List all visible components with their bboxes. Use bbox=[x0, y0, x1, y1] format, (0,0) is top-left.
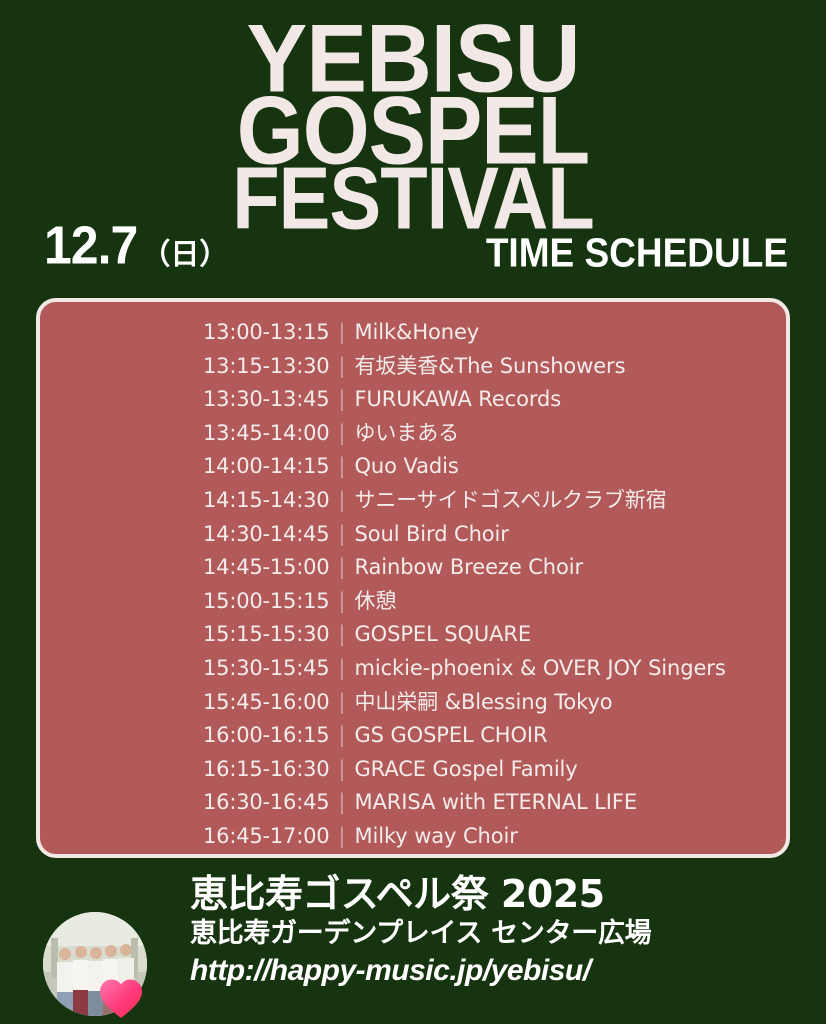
schedule-row-time: 16:00-16:15 bbox=[203, 719, 329, 753]
schedule-row-separator: | bbox=[329, 786, 354, 820]
schedule-row-time: 15:00-15:15 bbox=[203, 585, 329, 619]
poster-title: YEBISU GOSPEL FESTIVAL bbox=[0, 0, 826, 240]
schedule-row-act: サニーサイドゴスペルクラブ新宿 bbox=[355, 484, 667, 518]
schedule-row-time: 15:45-16:00 bbox=[203, 686, 329, 720]
schedule-row-separator: | bbox=[329, 350, 354, 384]
schedule-row-act: Milky way Choir bbox=[355, 820, 518, 854]
footer-event-title: 恵比寿ゴスペル祭 2025 bbox=[190, 872, 790, 916]
schedule-row: 15:15-15:30|GOSPEL SQUARE bbox=[203, 618, 786, 652]
schedule-row: 16:30-16:45|MARISA with ETERNAL LIFE bbox=[203, 786, 786, 820]
schedule-row: 16:45-17:00|Milky way Choir bbox=[203, 820, 786, 854]
schedule-row-separator: | bbox=[329, 719, 354, 753]
schedule-row-act: 有坂美香&The Sunshowers bbox=[355, 350, 626, 384]
schedule-row-act: 休憩 bbox=[355, 585, 397, 619]
schedule-row-act: GS GOSPEL CHOIR bbox=[355, 719, 548, 753]
schedule-row: 14:45-15:00|Rainbow Breeze Choir bbox=[203, 551, 786, 585]
schedule-row-separator: | bbox=[329, 618, 354, 652]
footer-url[interactable]: http://happy-music.jp/yebisu/ bbox=[190, 952, 790, 990]
event-date: 12.7 （日） bbox=[44, 222, 228, 272]
footer-photo-group bbox=[43, 912, 147, 1016]
event-date-number: 12.7 bbox=[44, 218, 137, 272]
poster-footer: 恵比寿ゴスペル祭 2025 恵比寿ガーデンプレイス センター広場 http://… bbox=[0, 866, 826, 1024]
schedule-row: 14:30-14:45|Soul Bird Choir bbox=[203, 518, 786, 552]
schedule-row-act: ゆいまある bbox=[355, 417, 460, 451]
schedule-row-time: 14:30-14:45 bbox=[203, 518, 329, 552]
schedule-row-separator: | bbox=[329, 484, 354, 518]
heart-icon bbox=[99, 978, 143, 1020]
schedule-row-separator: | bbox=[329, 652, 354, 686]
schedule-row-act: FURUKAWA Records bbox=[355, 383, 562, 417]
schedule-row-act: 中山栄嗣 &Blessing Tokyo bbox=[355, 686, 613, 720]
schedule-row: 15:00-15:15|休憩 bbox=[203, 585, 786, 619]
event-date-dayofweek: （日） bbox=[141, 240, 228, 269]
schedule-row-time: 15:15-15:30 bbox=[203, 618, 329, 652]
schedule-row: 14:00-14:15|Quo Vadis bbox=[203, 450, 786, 484]
schedule-row: 15:30-15:45|mickie-phoenix & OVER JOY Si… bbox=[203, 652, 786, 686]
schedule-panel: 13:00-13:15|Milk&Honey13:15-13:30|有坂美香&T… bbox=[36, 298, 790, 858]
schedule-row-act: mickie-phoenix & OVER JOY Singers bbox=[355, 652, 726, 686]
schedule-row: 13:15-13:30|有坂美香&The Sunshowers bbox=[203, 350, 786, 384]
schedule-row-time: 13:00-13:15 bbox=[203, 316, 329, 350]
schedule-row-act: MARISA with ETERNAL LIFE bbox=[355, 786, 638, 820]
schedule-row-separator: | bbox=[329, 753, 354, 787]
schedule-row-separator: | bbox=[329, 450, 354, 484]
schedule-row-separator: | bbox=[329, 686, 354, 720]
schedule-row-act: Soul Bird Choir bbox=[355, 518, 509, 552]
schedule-row: 13:30-13:45|FURUKAWA Records bbox=[203, 383, 786, 417]
schedule-row-time: 15:30-15:45 bbox=[203, 652, 329, 686]
schedule-row-time: 14:00-14:15 bbox=[203, 450, 329, 484]
schedule-row-act: Rainbow Breeze Choir bbox=[355, 551, 584, 585]
schedule-row: 16:15-16:30|GRACE Gospel Family bbox=[203, 753, 786, 787]
time-schedule-heading: TIME SCHEDULE bbox=[486, 232, 788, 273]
schedule-row-time: 16:15-16:30 bbox=[203, 753, 329, 787]
schedule-row-time: 13:15-13:30 bbox=[203, 350, 329, 384]
schedule-row-time: 14:15-14:30 bbox=[203, 484, 329, 518]
schedule-row-separator: | bbox=[329, 551, 354, 585]
schedule-row-time: 16:30-16:45 bbox=[203, 786, 329, 820]
schedule-row-separator: | bbox=[329, 518, 354, 552]
poster-root: YEBISU GOSPEL FESTIVAL 12.7 （日） TIME SCH… bbox=[0, 0, 826, 1024]
schedule-row-act: Quo Vadis bbox=[355, 450, 459, 484]
schedule-row: 14:15-14:30|サニーサイドゴスペルクラブ新宿 bbox=[203, 484, 786, 518]
schedule-row-act: Milk&Honey bbox=[355, 316, 480, 350]
schedule-row-act: GOSPEL SQUARE bbox=[355, 618, 532, 652]
schedule-row-separator: | bbox=[329, 316, 354, 350]
schedule-list: 13:00-13:15|Milk&Honey13:15-13:30|有坂美香&T… bbox=[40, 316, 786, 854]
schedule-row-time: 13:30-13:45 bbox=[203, 383, 329, 417]
schedule-row-separator: | bbox=[329, 417, 354, 451]
schedule-row-separator: | bbox=[329, 585, 354, 619]
footer-venue: 恵比寿ガーデンプレイス センター広場 bbox=[190, 916, 790, 952]
schedule-row-separator: | bbox=[329, 383, 354, 417]
schedule-row-separator: | bbox=[329, 820, 354, 854]
schedule-row-act: GRACE Gospel Family bbox=[355, 753, 578, 787]
schedule-row: 15:45-16:00|中山栄嗣 &Blessing Tokyo bbox=[203, 686, 786, 720]
schedule-row-time: 16:45-17:00 bbox=[203, 820, 329, 854]
schedule-row: 13:45-14:00|ゆいまある bbox=[203, 417, 786, 451]
schedule-row-time: 14:45-15:00 bbox=[203, 551, 329, 585]
schedule-row-time: 13:45-14:00 bbox=[203, 417, 329, 451]
schedule-row: 16:00-16:15|GS GOSPEL CHOIR bbox=[203, 719, 786, 753]
footer-text-block: 恵比寿ゴスペル祭 2025 恵比寿ガーデンプレイス センター広場 http://… bbox=[190, 872, 790, 990]
schedule-row: 13:00-13:15|Milk&Honey bbox=[203, 316, 786, 350]
